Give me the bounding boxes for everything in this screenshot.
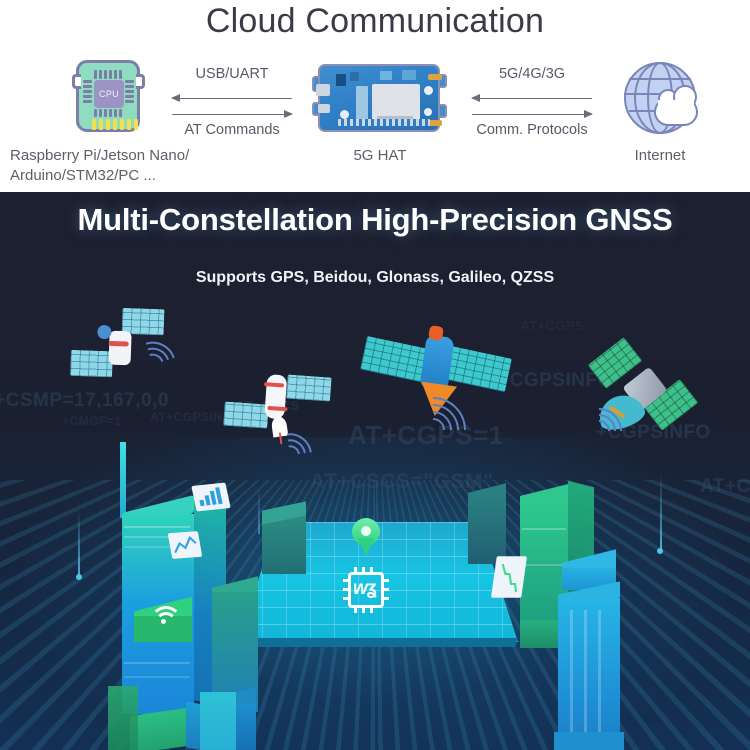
cpu-chip-icon: CPU [72,60,146,138]
page-title: Cloud Communication [0,2,750,41]
cpu-gold-fingers [92,119,138,130]
satellite-green-panels-dish [586,344,726,454]
pin-hole [361,526,371,536]
small-block-far-left [108,686,138,750]
tower-window-band [124,526,190,528]
waveshare-chip-icon: wʓ [344,568,388,612]
hat-antenna-pad-2 [428,120,442,126]
blue-tower-base [554,732,624,750]
scene-subtitle: Supports GPS, Beidou, Glonass, Galileo, … [0,269,750,287]
map-pin-icon [352,518,380,558]
hat-mount-hole-2 [424,86,433,95]
hat-chip-a [336,74,346,86]
guide-line-left [78,512,80,576]
link-label-bottom: Comm. Protocols [452,122,612,138]
arrow-right [172,114,292,115]
chip-pin [370,607,373,613]
caption-5g-hat: 5G HAT [310,146,450,166]
chip-pin [383,597,389,600]
hat-5g-module [372,84,420,124]
guide-line-right [660,474,662,552]
arrow-left [172,98,292,99]
5g-hat-board-icon [312,58,447,140]
cloud-mask [658,100,694,116]
signal-bars-card [191,482,230,511]
solar-panel-right [444,346,512,392]
hat-gpio-header [338,119,430,126]
satellite-stripe [109,341,129,347]
tower-window-band [124,676,190,678]
green-building-band [522,528,566,530]
satellite-white-red-stripe [215,352,348,473]
blue-tower-mullion [584,610,587,734]
guide-dot-right [657,548,663,554]
hat-mount-hole-1 [340,110,349,119]
arrow-left [472,98,592,99]
cpu-core-label: CPU [94,80,124,108]
green-building-band [522,564,566,566]
solar-panel-left [223,402,269,429]
chip-pin [383,579,389,582]
arrow-right [472,114,592,115]
gnss-scene: +CSMP=17,167,0,0 AT+CGPS=1 AT+CSCS="GSM"… [0,192,750,750]
satellite-top-cap [428,325,444,341]
line-chart-card [168,531,203,559]
chip-pin [354,567,357,573]
hat-chip-b [350,72,359,81]
blue-tower-face [558,598,620,746]
hat-usb-connector-2 [318,104,330,113]
solar-panel-left [70,350,113,377]
hat-sim-slot [356,86,368,120]
dark-block-face [468,496,506,564]
cpu-notch-right [136,74,145,89]
cpu-pins-left [83,80,92,103]
tower-antenna-mast [120,442,126,518]
hat-chip-c [380,71,392,80]
cpu-pins-top [94,70,122,79]
foreground-pillar-left [200,692,236,750]
satellite-body [109,331,132,366]
solar-panel-left [360,336,428,382]
link-label-top: USB/UART [152,66,312,82]
caption-internet: Internet [600,146,720,166]
satellite-orange-cone [355,318,515,448]
chip-pin [343,597,349,600]
chip-pin [370,567,373,573]
cpu-pins-bottom [94,109,122,117]
chip-pin [383,588,389,591]
internet-globe-icon [620,60,700,140]
hat-pcb [318,64,440,132]
link-label-bottom: AT Commands [152,122,312,138]
cpu-pins-right [125,80,134,103]
hat-chip-d [402,70,416,80]
tower-window-band [124,662,190,664]
globe-parallel-top [629,78,691,80]
blue-tower-mullion [598,610,601,734]
satellite-body [264,374,287,419]
caption-host: Raspberry Pi/Jetson Nano/ Arduino/STM32/… [0,146,310,186]
blue-tower-mullion [570,610,573,734]
hat-mount-hole-3 [424,108,432,116]
chip-pin [343,579,349,582]
chip-pin [362,607,365,613]
pin-tip [358,538,374,556]
hat-antenna-pad-1 [428,74,442,80]
chip-pin [354,607,357,613]
cloud-communication-panel: Cloud Communication CPU U [0,0,750,192]
chip-logo-mark: wʓ [353,579,376,599]
guide-dot-left [76,574,82,580]
chip-pin [343,588,349,591]
link-label-top: 5G/4G/3G [452,66,612,82]
tower-base-left [130,708,186,750]
platform-edge [238,638,518,647]
hat-usb-connector [316,84,330,96]
wifi-icon [146,604,180,626]
line-chart-card-right [491,556,527,598]
chip-pin [362,567,365,573]
cpu-notch-left [72,74,81,89]
solar-panel-right [286,375,332,402]
page-root: Cloud Communication CPU U [0,0,750,750]
scene-title: Multi-Constellation High-Precision GNSS [0,202,750,238]
